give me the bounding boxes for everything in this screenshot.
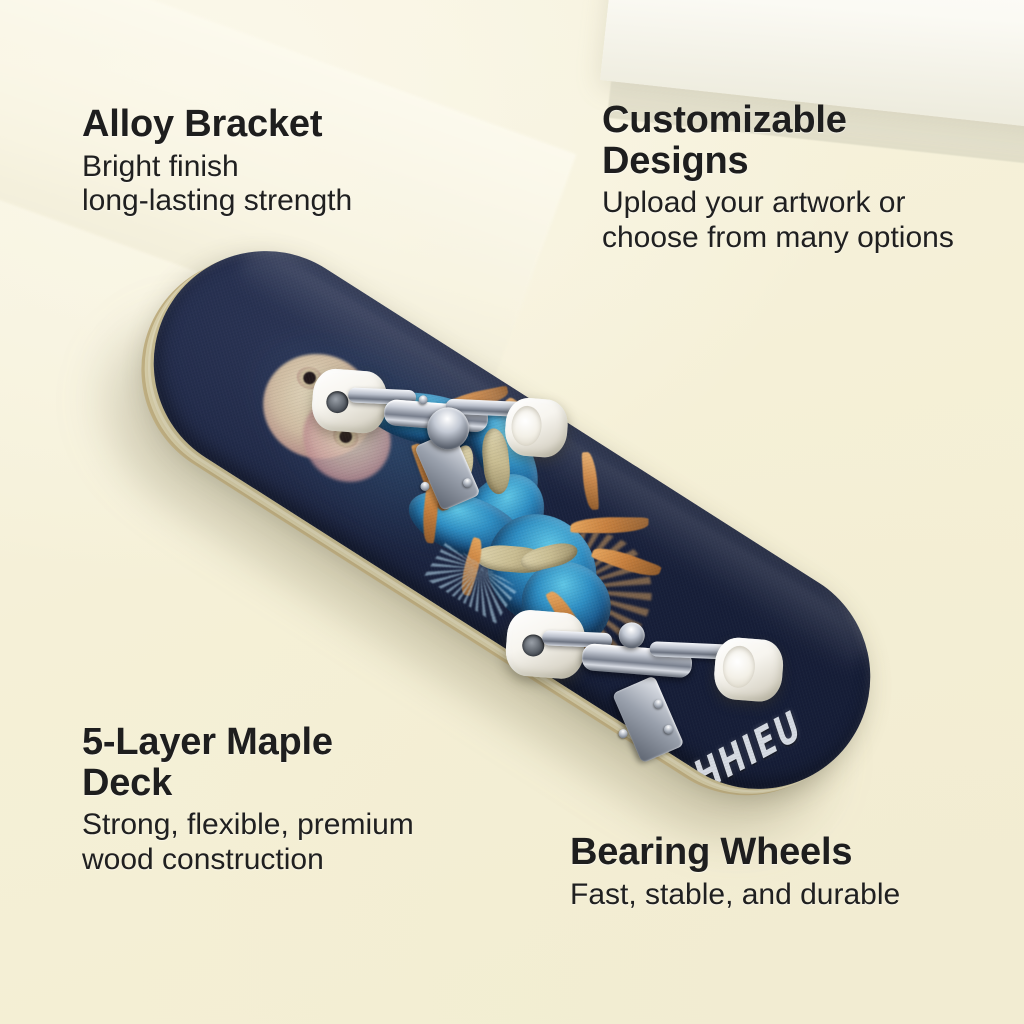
callout-subtitle: Fast, stable, and durable — [570, 878, 900, 913]
callout-alloy-bracket: Alloy Bracket Bright finish long-lasting… — [82, 104, 352, 219]
dragon-fin-6 — [570, 517, 648, 534]
wheel-bearing-hub — [326, 390, 350, 414]
callout-title: 5-Layer Maple Deck — [82, 722, 414, 803]
callout-maple-deck: 5-Layer Maple Deck Strong, flexible, pre… — [82, 722, 414, 877]
callout-title: Alloy Bracket — [82, 104, 352, 145]
callout-subtitle: Upload your artwork or choose from many … — [602, 186, 954, 255]
dragon-fin-3 — [581, 452, 599, 511]
wheel-front-right — [503, 396, 569, 459]
callout-bearing-wheels: Bearing Wheels Fast, stable, and durable — [570, 832, 900, 912]
callout-subtitle: Strong, flexible, premium wood construct… — [82, 808, 414, 877]
callout-customizable-designs: Customizable Designs Upload your artwork… — [602, 100, 954, 255]
rear-baseplate — [612, 675, 684, 763]
callout-title: Bearing Wheels — [570, 832, 900, 873]
infographic-canvas: AZHHIEU — [0, 0, 1024, 1024]
callout-title: Customizable Designs — [602, 100, 954, 181]
wheel-outer-face — [721, 645, 756, 689]
wheel-rear-right — [712, 636, 785, 703]
callout-subtitle: Bright finish long-lasting strength — [82, 150, 352, 219]
wheel-outer-face — [510, 405, 543, 447]
